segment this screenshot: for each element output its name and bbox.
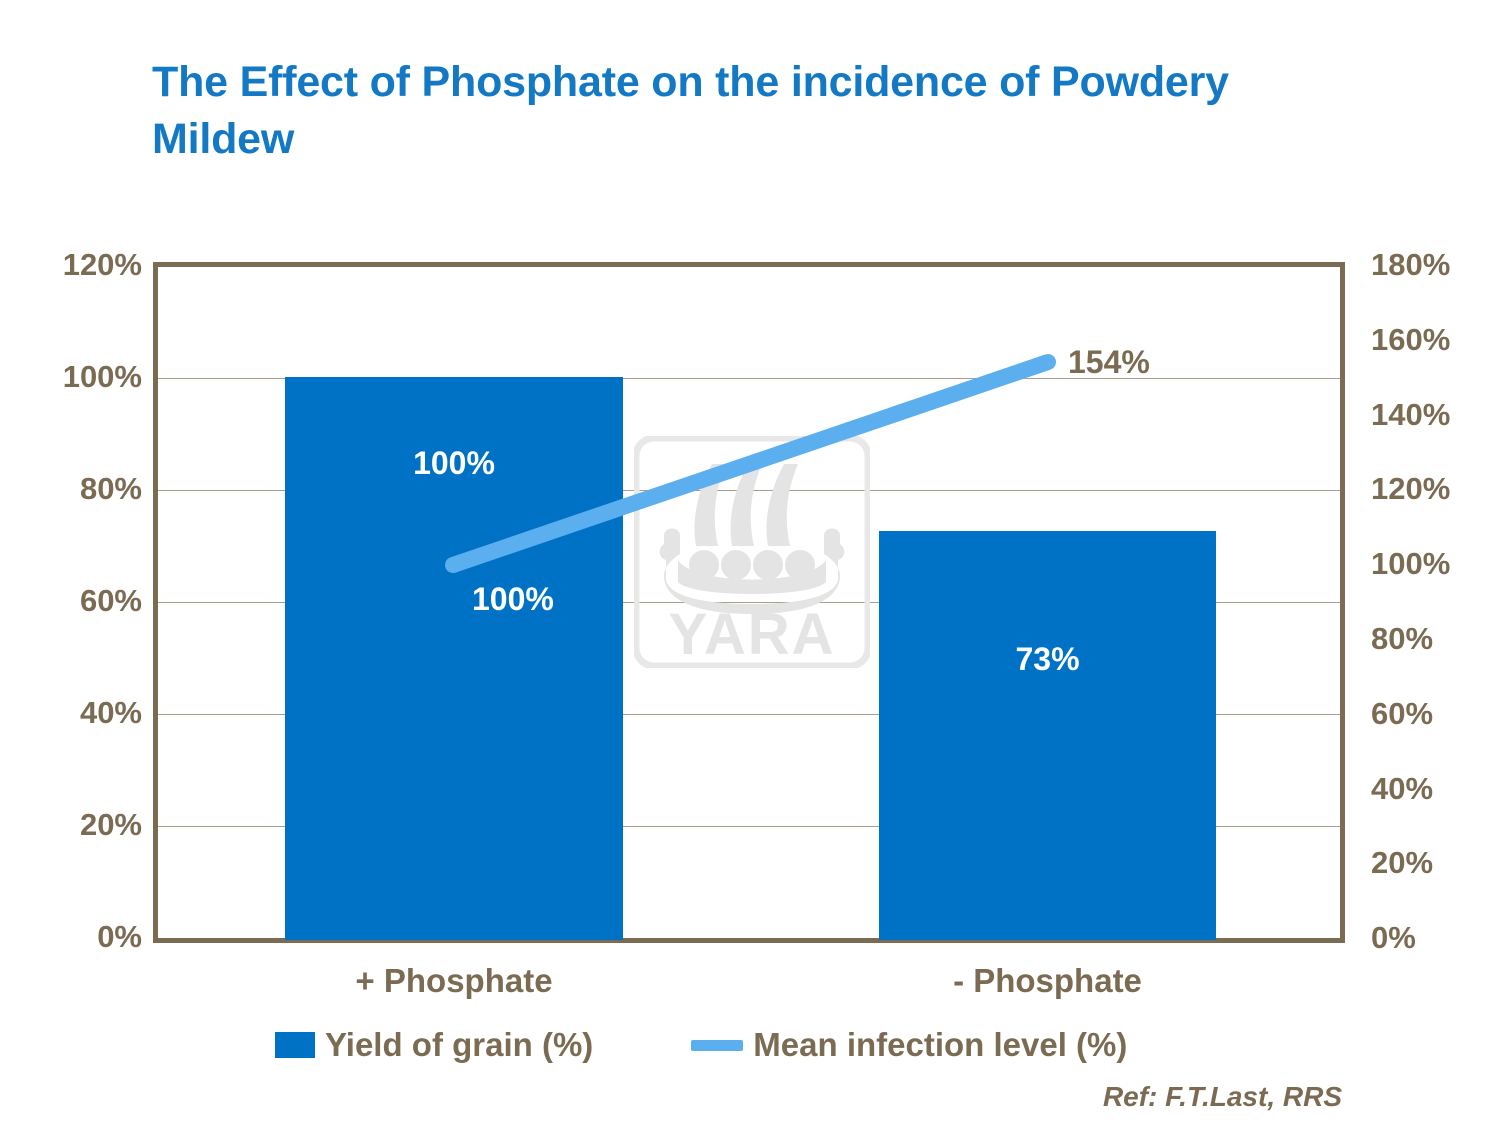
y-axis-left-tick-20: 20%	[80, 807, 142, 843]
y-axis-left-tick-80: 80%	[80, 471, 142, 507]
y-axis-left-tick-100: 100%	[63, 359, 142, 395]
bar-value-label-plus-phosphate: 100%	[285, 445, 623, 482]
y-axis-right-tick-60: 60%	[1371, 696, 1433, 732]
y-axis-right-tick-100: 100%	[1371, 546, 1450, 582]
y-axis-right-tick-0: 0%	[1371, 920, 1416, 956]
y-axis-right-tick-40: 40%	[1371, 771, 1433, 807]
x-axis-category-plus-phosphate: + Phosphate	[285, 962, 623, 1000]
chart-page: The Effect of Phosphate on the incidence…	[0, 0, 1500, 1126]
legend-label-mean-infection-level: Mean infection level (%)	[753, 1026, 1127, 1064]
y-axis-right-tick-120: 120%	[1371, 471, 1450, 507]
y-axis-left-tick-0: 0%	[97, 919, 142, 955]
legend-item-yield-of-grain[interactable]: Yield of grain (%)	[275, 1026, 593, 1064]
y-axis-left-tick-60: 60%	[80, 583, 142, 619]
legend-line-swatch-icon	[691, 1040, 743, 1051]
y-axis-left-tick-40: 40%	[80, 695, 142, 731]
legend: Yield of grain (%) Mean infection level …	[275, 1026, 1127, 1064]
y-axis-right-tick-180: 180%	[1371, 247, 1450, 283]
legend-bar-swatch-icon	[275, 1032, 315, 1058]
y-axis-right-tick-140: 140%	[1371, 397, 1450, 433]
legend-item-mean-infection-level[interactable]: Mean infection level (%)	[691, 1026, 1127, 1064]
page-title: The Effect of Phosphate on the incidence…	[152, 54, 1332, 168]
bar-value-label-minus-phosphate: 73%	[879, 641, 1216, 678]
legend-label-yield-of-grain: Yield of grain (%)	[325, 1026, 593, 1064]
reference-note: Ref: F.T.Last, RRS	[1103, 1081, 1342, 1113]
line-value-label-plus-phosphate: 100%	[472, 581, 554, 618]
x-axis-category-minus-phosphate: - Phosphate	[879, 962, 1216, 1000]
y-axis-left-tick-120: 120%	[63, 247, 142, 283]
y-axis-right-tick-20: 20%	[1371, 845, 1433, 881]
line-value-label-minus-phosphate: 154%	[1068, 344, 1150, 381]
bar-minus-phosphate	[879, 531, 1216, 940]
y-axis-right-tick-160: 160%	[1371, 322, 1450, 358]
y-axis-right-tick-80: 80%	[1371, 621, 1433, 657]
